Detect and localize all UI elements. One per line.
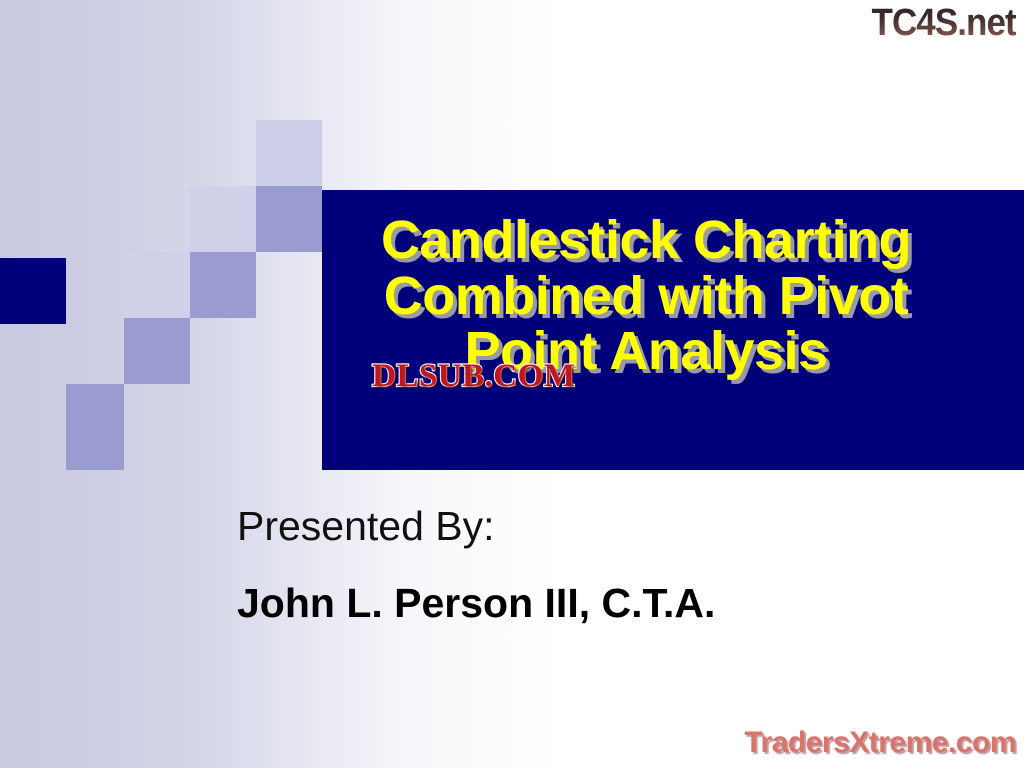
tc4s-watermark: TC4S.net — [872, 2, 1016, 45]
mosaic-square — [256, 186, 322, 252]
slide-title: Candlestick Charting Combined with Pivot… — [322, 213, 970, 380]
presentation-slide: Candlestick Charting Combined with Pivot… — [0, 0, 1024, 768]
dlsub-watermark: DLSUB.COM — [372, 358, 575, 395]
tradersxtreme-watermark: TradersXtreme.com — [744, 726, 1016, 760]
presenter-name: John L. Person III, C.T.A. — [237, 582, 937, 625]
mosaic-square — [190, 252, 256, 318]
mosaic-square — [66, 384, 124, 470]
presented-by-label: Presented By: — [237, 505, 937, 548]
mosaic-square — [124, 252, 190, 318]
subtitle-block: Presented By: John L. Person III, C.T.A. — [237, 505, 937, 625]
mosaic-square — [124, 318, 190, 384]
mosaic-square — [256, 120, 322, 190]
mosaic-square — [0, 258, 66, 324]
mosaic-square — [190, 186, 256, 252]
